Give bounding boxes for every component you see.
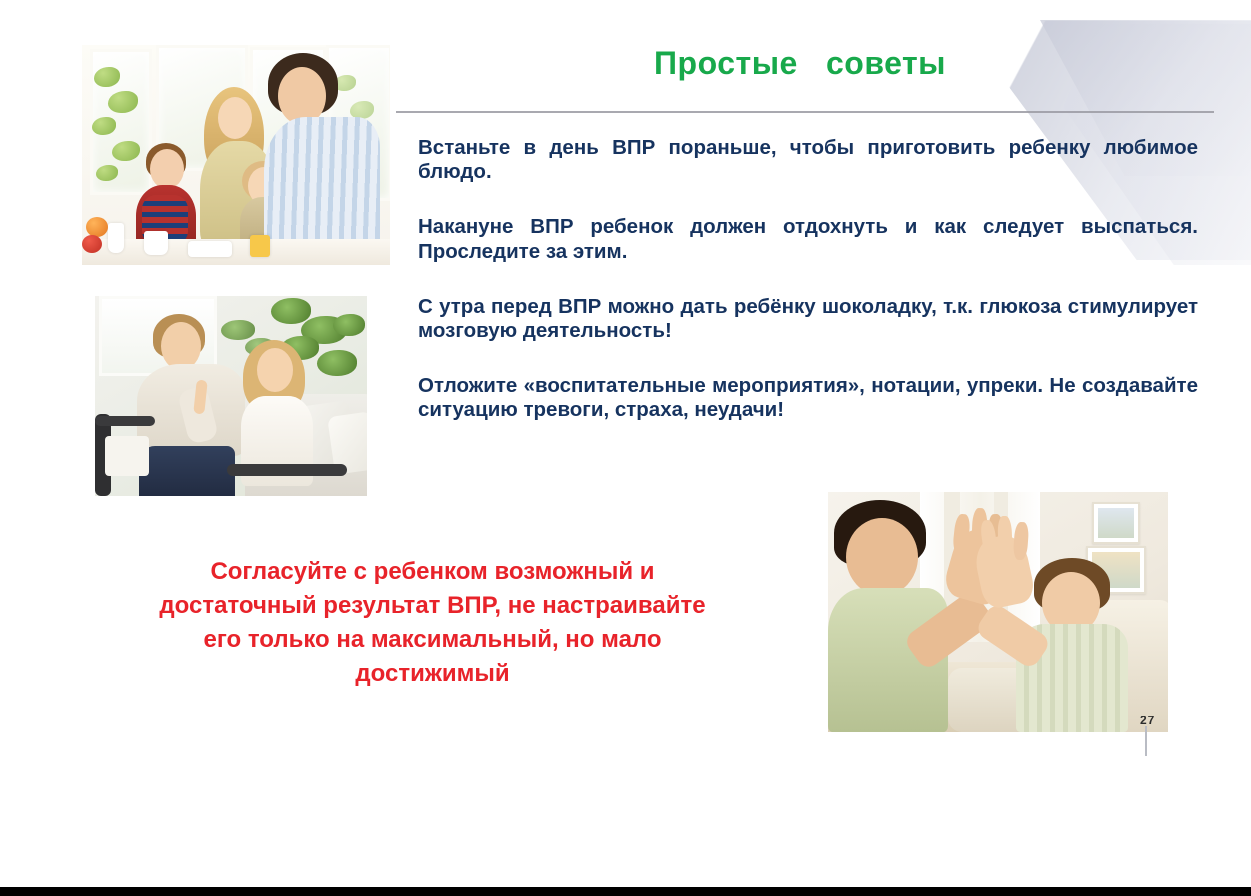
livingroom-scene-2 — [828, 492, 1168, 732]
tip-item-no-lectures: Отложите «воспитательные мероприятия», н… — [418, 374, 1198, 422]
conclusion-line-1: Согласуйте с ребенком возможный и — [60, 555, 805, 589]
conclusion-line-4: достижимый — [60, 657, 805, 691]
tips-list: Встаньте в день ВПР пораньше, чтобы приг… — [418, 136, 1198, 423]
livingroom-scene — [95, 296, 367, 496]
slide-title: Простые советы — [400, 45, 1200, 82]
photo-highfive — [828, 492, 1168, 732]
tip-item-rest-sleep: Накануне ВПР ребенок должен отдохнуть и … — [418, 215, 1198, 263]
photo-family-breakfast — [82, 45, 390, 265]
kitchen-scene — [82, 45, 390, 265]
conclusion-line-3: его только на максимальный, но мало — [60, 623, 805, 657]
bottom-edge-bar — [0, 887, 1251, 896]
tip-item-wake-early: Встаньте в день ВПР пораньше, чтобы приг… — [418, 136, 1198, 184]
slide-number-rule — [1145, 726, 1147, 756]
conclusion-text: Согласуйте с ребенком возможный и достат… — [60, 555, 805, 691]
slide-number: 27 — [1140, 716, 1155, 725]
slide-canvas: Простые советы Встаньте в день ВПР поран… — [0, 0, 1251, 896]
title-divider — [396, 111, 1214, 113]
tip-item-chocolate: С утра перед ВПР можно дать ребёнку шоко… — [418, 295, 1198, 343]
conclusion-line-2: достаточный результат ВПР, не настраивай… — [60, 589, 805, 623]
photo-mother-daughter — [95, 296, 367, 496]
